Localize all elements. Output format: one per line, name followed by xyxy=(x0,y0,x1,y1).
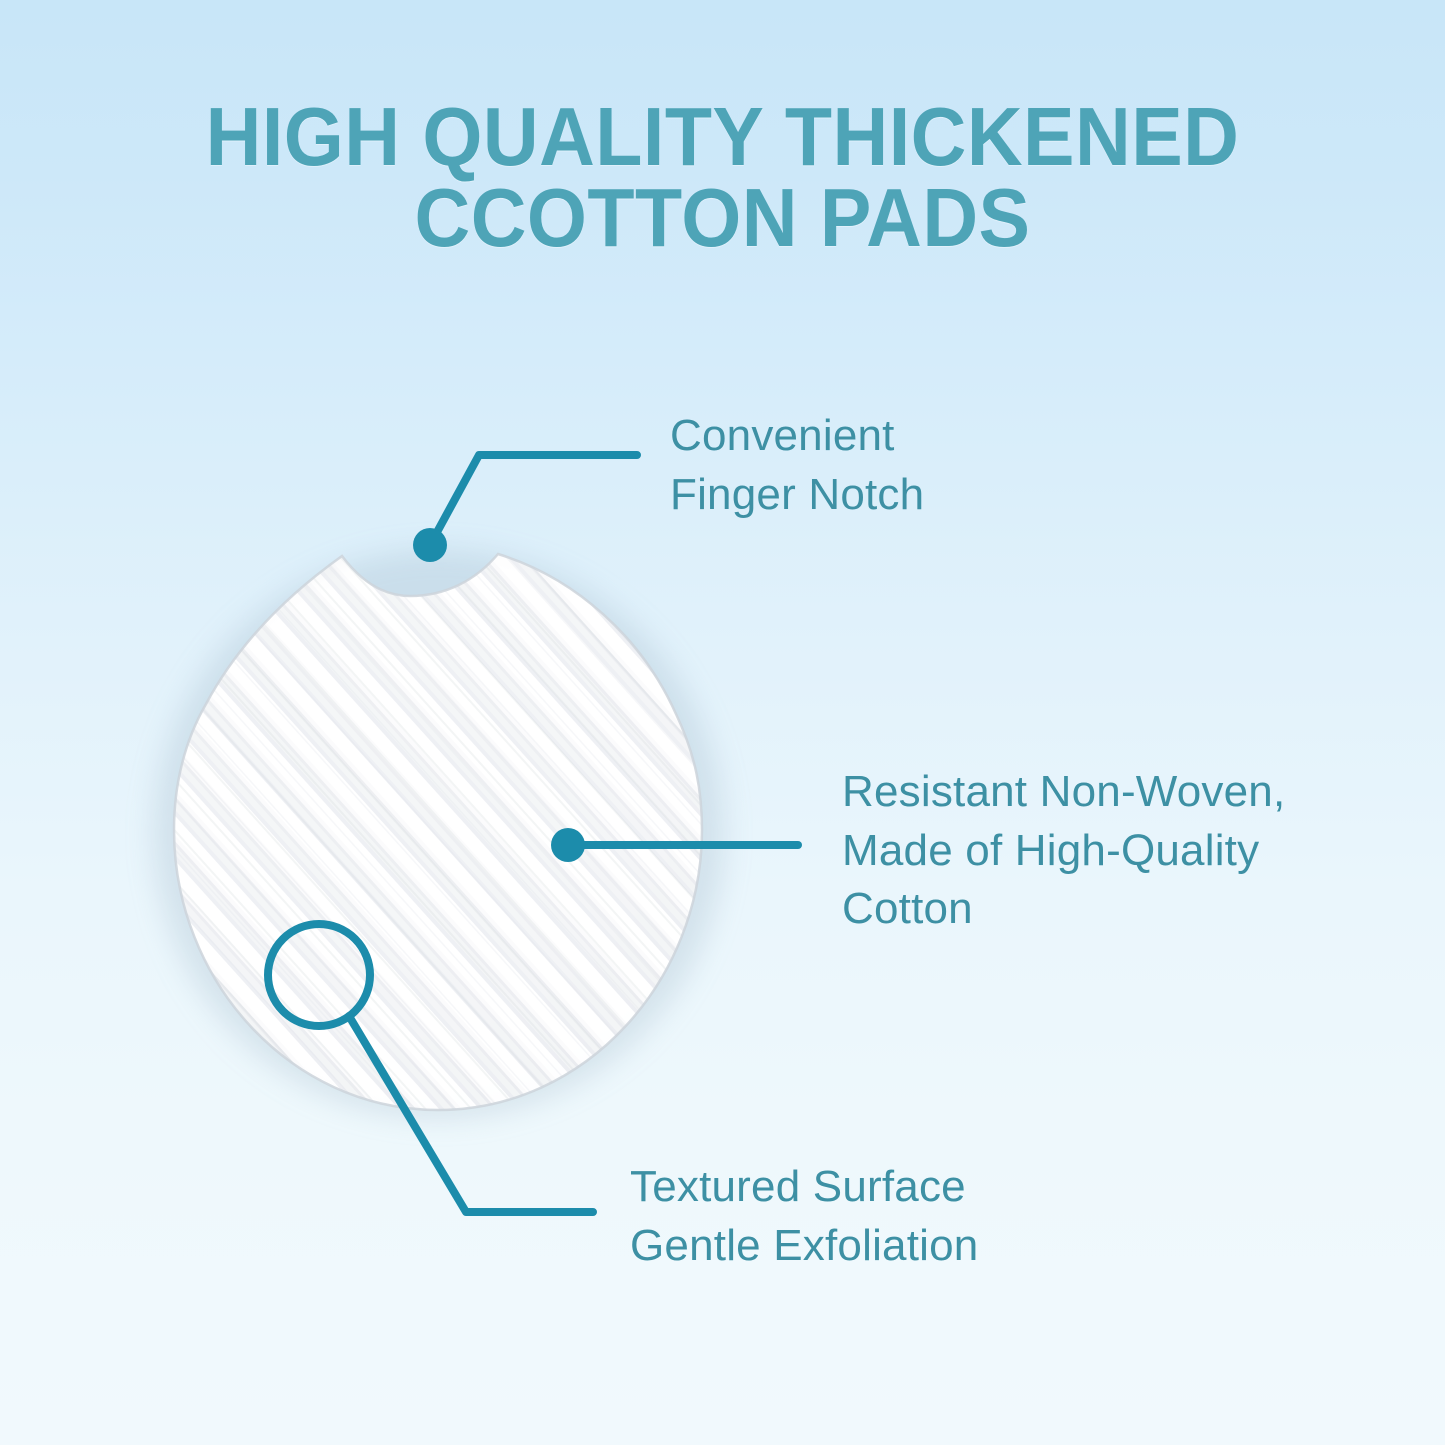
callout-non-woven-line-2: Made of High-Quality xyxy=(842,822,1285,881)
page-title: HIGH QUALITY THICKENED CCOTTON PADS xyxy=(51,96,1395,259)
callout-text-textured-surface: Textured Surface Gentle Exfoliation xyxy=(630,1158,978,1275)
cotton-pad-image xyxy=(146,534,730,1118)
cotton-pad-illustration xyxy=(146,534,730,1118)
callout-finger-notch-line-2: Finger Notch xyxy=(670,466,924,525)
cotton-pad-body xyxy=(106,494,786,1174)
callout-textured-surface-line-1: Textured Surface xyxy=(630,1158,978,1217)
callout-text-non-woven-cotton: Resistant Non-Woven, Made of High-Qualit… xyxy=(842,763,1285,939)
callout-finger-notch-line-1: Convenient xyxy=(670,407,924,466)
leader-line-finger-notch xyxy=(430,455,637,545)
callout-text-finger-notch: Convenient Finger Notch xyxy=(670,407,924,524)
product-infographic-poster: HIGH QUALITY THICKENED CCOTTON PADS xyxy=(0,0,1445,1445)
callout-textured-surface-line-2: Gentle Exfoliation xyxy=(630,1217,978,1276)
page-title-line-2: CCOTTON PADS xyxy=(51,177,1395,258)
page-title-line-1: HIGH QUALITY THICKENED xyxy=(51,96,1395,177)
callout-non-woven-line-1: Resistant Non-Woven, xyxy=(842,763,1285,822)
callout-non-woven-line-3: Cotton xyxy=(842,880,1285,939)
